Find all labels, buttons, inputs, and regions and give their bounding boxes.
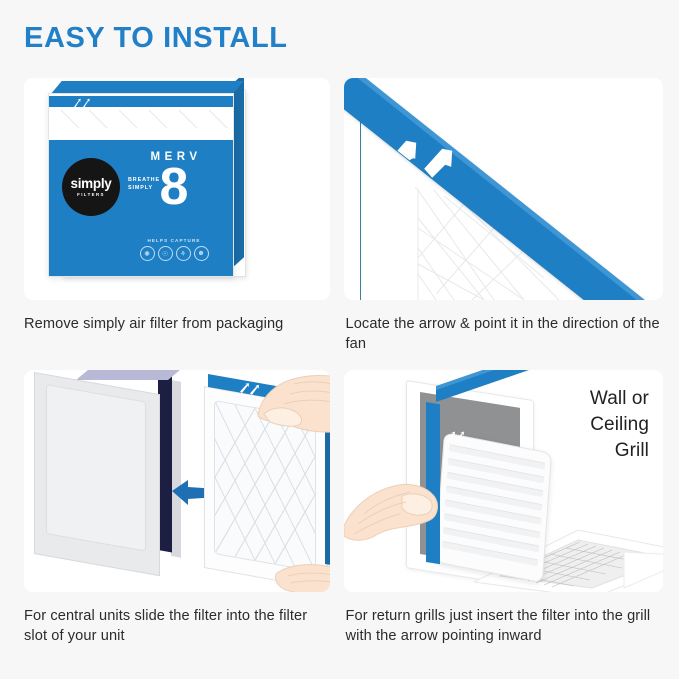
steps-row-bottom: For central units slide the filter into …: [0, 370, 679, 648]
callout-line-3: Grill: [529, 438, 649, 464]
step-4-image-card: Wall or Ceiling Grill: [344, 370, 664, 592]
step-3-cell: For central units slide the filter into …: [0, 370, 340, 648]
page-title: EASY TO INSTALL: [24, 24, 288, 53]
logo-brand-sub: FILTERS: [77, 192, 105, 197]
hand-lower: [274, 556, 330, 592]
airflow-arrow-icon: [71, 95, 95, 105]
steps-row-top: simply FILTERS BREATHE SIMPLY MERV 8: [0, 78, 679, 356]
filter-edge-with-airflow-arrows: [344, 78, 664, 300]
hand-holding-filter: [344, 474, 464, 548]
helps-capture-icons: ✺ ☉ ⚘ ☻: [130, 246, 218, 261]
pet-dander-icon: ☻: [194, 246, 209, 261]
steps-grid: simply FILTERS BREATHE SIMPLY MERV 8: [0, 78, 679, 648]
box-face-blue-band: simply FILTERS BREATHE SIMPLY MERV 8: [48, 140, 234, 277]
step-4-cell: Wall or Ceiling Grill For return grills …: [340, 370, 679, 648]
hand-inserting-filter-into-ceiling-grill: Wall or Ceiling Grill: [344, 370, 664, 592]
logo-brand-name: simply: [71, 177, 112, 191]
easy-to-install-infographic: EASY TO INSTALL: [0, 0, 679, 679]
helps-capture-label: HELPS CAPTURE: [134, 238, 214, 243]
airflow-arrow-icon: [444, 430, 470, 442]
box-front-face: simply FILTERS BREATHE SIMPLY MERV 8: [48, 93, 234, 277]
step-3-caption: For central units slide the filter into …: [24, 606, 330, 648]
step-2-image-card: [344, 78, 664, 300]
step-3-image-card: [24, 370, 330, 592]
merv-value: 8: [134, 162, 214, 212]
filter-packaging-box: simply FILTERS BREATHE SIMPLY MERV 8: [48, 81, 245, 277]
hvac-unit-filter-slot: [158, 370, 172, 552]
simply-filters-logo: simply FILTERS: [62, 158, 120, 216]
step-1-image-card: simply FILTERS BREATHE SIMPLY MERV 8: [24, 78, 330, 300]
hvac-unit-side-light: [171, 380, 181, 558]
step-4-caption: For return grills just insert the filter…: [346, 606, 664, 648]
step-2-caption: Locate the arrow & point it in the direc…: [346, 314, 664, 356]
callout-line-2: Ceiling: [529, 412, 649, 438]
dust-icon: ☉: [158, 246, 173, 261]
filter-left-edge-line: [360, 96, 362, 300]
merv-rating-block: MERV 8: [134, 152, 214, 212]
step-1-caption: Remove simply air filter from packaging: [24, 314, 330, 356]
pollen-icon: ✺: [140, 246, 155, 261]
callout-line-1: Wall or: [529, 386, 649, 412]
hand-upper: [250, 370, 330, 436]
mold-icon: ⚘: [176, 246, 191, 261]
step-1-cell: simply FILTERS BREATHE SIMPLY MERV 8: [0, 78, 340, 356]
hvac-unit-face-inset: [46, 384, 146, 552]
grill-callout-text: Wall or Ceiling Grill: [529, 386, 649, 464]
hands-sliding-filter-into-central-unit: [24, 370, 330, 592]
step-2-cell: Locate the arrow & point it in the direc…: [340, 78, 679, 356]
